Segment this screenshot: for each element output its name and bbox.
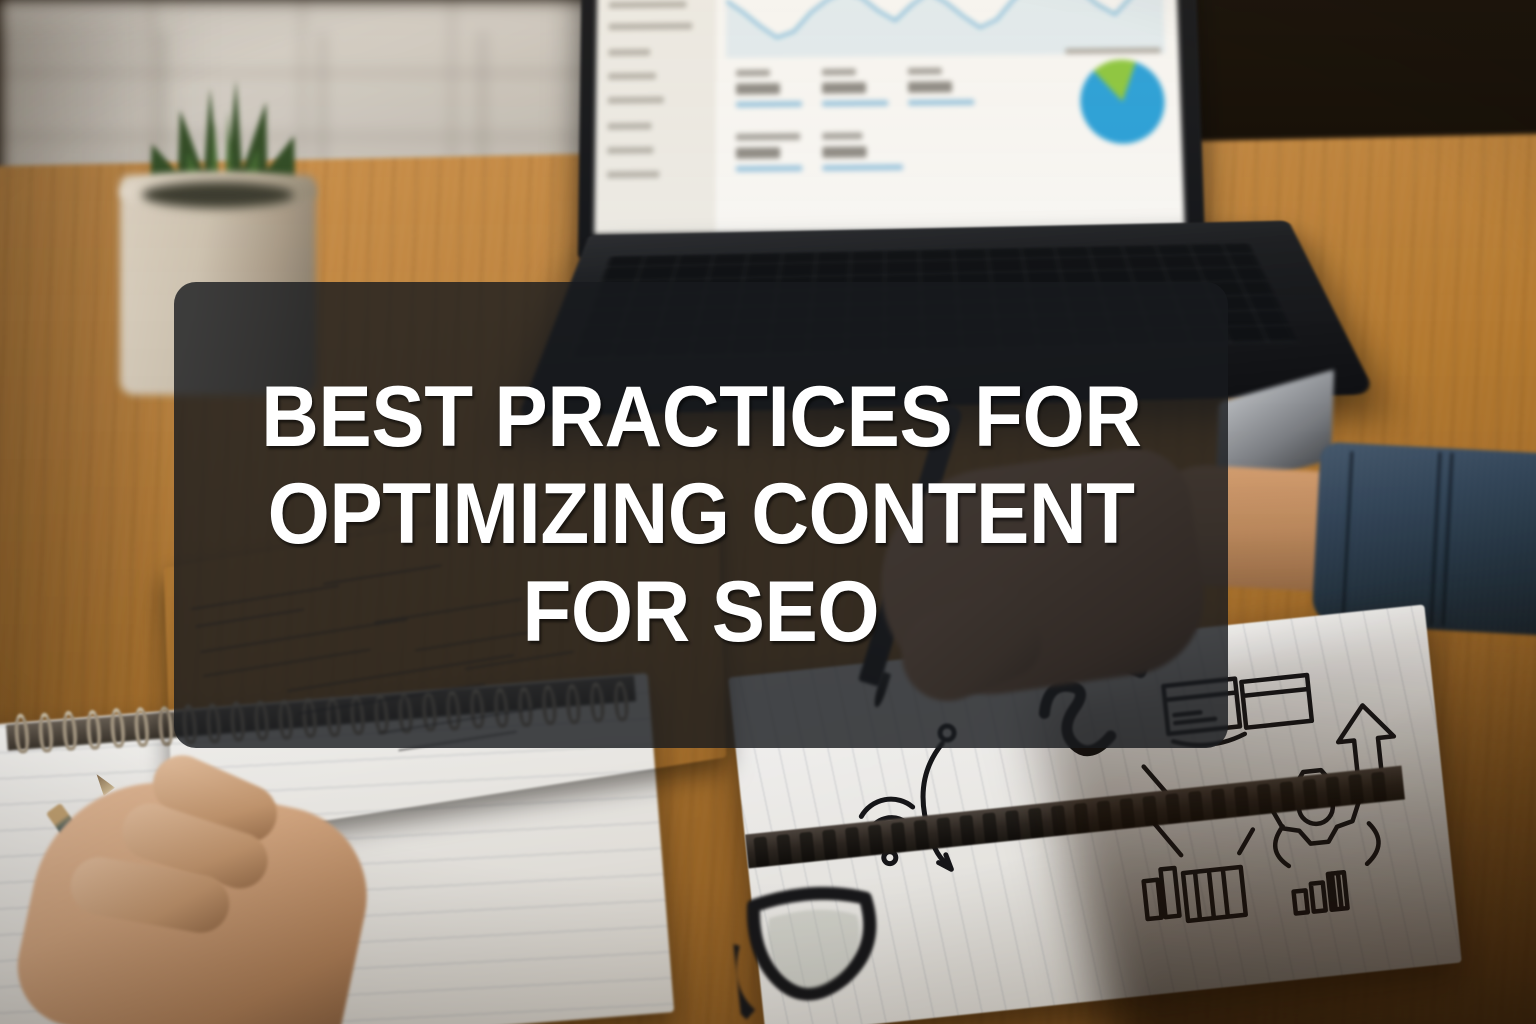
title-line-2: OPTIMIZING CONTENT — [268, 469, 1135, 560]
spiral-coil — [133, 707, 150, 748]
spiral-coil — [959, 815, 975, 846]
spiral-coil — [109, 708, 126, 749]
spiral-coil — [936, 817, 952, 848]
eyeglasses — [727, 852, 994, 1024]
spiral-coil — [1028, 808, 1044, 839]
dashboard-kpi-3 — [908, 67, 975, 106]
page-title: BEST PRACTICES FOR OPTIMIZING CONTENT FO… — [174, 282, 1228, 748]
spiral-coil — [776, 834, 792, 865]
spiral-coil — [822, 829, 838, 860]
dashboard-main — [716, 0, 1185, 233]
dashboard-kpi-4 — [736, 133, 802, 172]
title-line-3: FOR SEO — [523, 567, 880, 658]
title-line-1: BEST PRACTICES FOR — [261, 372, 1141, 463]
spiral-coil — [914, 820, 930, 851]
spiral-coil — [61, 710, 78, 751]
spiral-coil — [13, 713, 30, 754]
spiral-coil — [891, 822, 907, 853]
dashboard-kpi-2 — [822, 68, 888, 107]
spiral-coil — [868, 824, 884, 855]
pie-chart-label-placeholder — [1065, 47, 1161, 54]
spiral-coil — [753, 836, 769, 867]
spiral-coil — [982, 812, 998, 843]
spiral-coil — [1005, 810, 1021, 841]
spiral-coil — [799, 832, 815, 863]
laptop-screen — [594, 0, 1185, 234]
dashboard-kpi-1 — [736, 69, 802, 108]
hero-banner: BEST PRACTICES FOR OPTIMIZING CONTENT FO… — [0, 0, 1536, 1024]
spiral-coil — [37, 712, 54, 753]
traffic-pie-chart — [1079, 59, 1165, 144]
dashboard-sidebar — [594, 0, 716, 234]
spiral-coil — [85, 709, 102, 750]
plant-pot-soil — [142, 182, 294, 208]
dashboard-kpi-5 — [822, 132, 903, 171]
spiral-coil — [845, 827, 861, 858]
